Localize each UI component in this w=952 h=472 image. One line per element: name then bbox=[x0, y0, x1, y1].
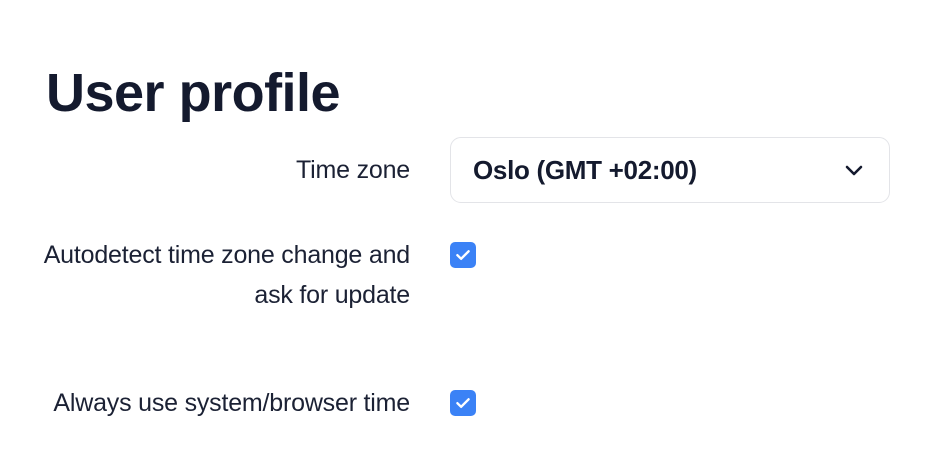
autodetect-timezone-control bbox=[450, 235, 476, 268]
system-time-checkbox[interactable] bbox=[450, 390, 476, 416]
time-zone-selected-value: Oslo (GMT +02:00) bbox=[473, 155, 697, 186]
user-profile-form: Time zone Oslo (GMT +02:00) Autodetect t… bbox=[0, 137, 952, 423]
time-zone-control: Oslo (GMT +02:00) bbox=[450, 137, 890, 203]
user-profile-page: User profile Time zone Oslo (GMT +02:00)… bbox=[0, 0, 952, 472]
check-icon bbox=[454, 246, 472, 264]
system-time-label: Always use system/browser time bbox=[0, 383, 410, 423]
autodetect-timezone-checkbox[interactable] bbox=[450, 242, 476, 268]
autodetect-timezone-label: Autodetect time zone change and ask for … bbox=[0, 235, 410, 315]
form-row-autodetect-timezone: Autodetect time zone change and ask for … bbox=[0, 235, 952, 315]
chevron-down-icon bbox=[839, 155, 869, 185]
time-zone-select[interactable]: Oslo (GMT +02:00) bbox=[450, 137, 890, 203]
system-time-control bbox=[450, 383, 476, 416]
check-icon bbox=[454, 394, 472, 412]
form-row-timezone: Time zone Oslo (GMT +02:00) bbox=[0, 137, 952, 203]
form-row-system-time: Always use system/browser time bbox=[0, 383, 952, 423]
time-zone-label: Time zone bbox=[0, 137, 410, 203]
page-title: User profile bbox=[46, 64, 340, 123]
